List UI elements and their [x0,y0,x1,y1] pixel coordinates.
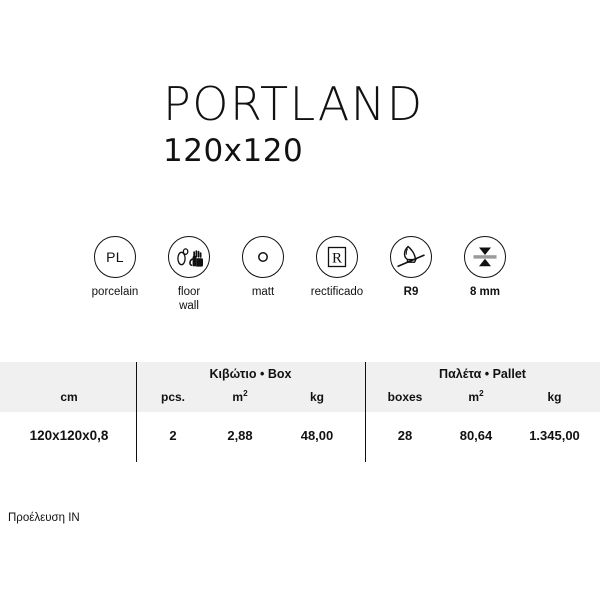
column-header-pcs: pcs. [142,390,204,404]
cell-pallet-kg: 1.345,00 [512,428,597,443]
packaging-spec-table: Κιβώτιο • Box Παλέτα • Pallet cm pcs. m2… [0,362,600,462]
product-size-subtitle: 120x120 [163,133,600,169]
feature-floor-wall: floor wall [152,236,226,313]
feature-label-slip-resistance: R9 [404,285,419,299]
matt-dot-circle-icon [242,236,284,278]
thickness-arrows-icon [464,236,506,278]
slip-resistance-ramp-foot-icon [390,236,432,278]
feature-rectified: R rectificado [300,236,374,313]
cell-cm: 120x120x0,8 [14,428,124,443]
product-header: PORTLAND 120x120 [0,78,600,169]
column-header-pallet-kg: kg [512,390,597,404]
cell-box-m2: 2,88 [204,428,276,443]
column-group-pallet: Παλέτα • Pallet [365,367,600,381]
table-divider-2-body [365,412,366,462]
feature-label-porcelain: porcelain [92,285,139,299]
cell-boxes: 28 [370,428,440,443]
origin-note: Προέλευση IN [8,512,80,524]
feature-label-thickness: 8 mm [470,285,500,299]
feature-label-matt: matt [252,285,274,299]
rectified-r-square-icon: R [316,236,358,278]
cell-pcs: 2 [142,428,204,443]
table-divider-1-body [136,412,137,462]
feature-porcelain: PL porcelain [78,236,152,313]
column-header-cm: cm [14,390,124,404]
feature-slip-resistance: R9 [374,236,448,313]
feature-matt: matt [226,236,300,313]
table-row: 120x120x0,8 2 2,88 48,00 28 80,64 1.345,… [0,412,600,462]
page-title: PORTLAND [163,78,600,130]
column-header-boxes: boxes [370,390,440,404]
table-header: Κιβώτιο • Box Παλέτα • Pallet cm pcs. m2… [0,362,600,412]
feature-thickness: 8 mm [448,236,522,313]
column-header-box-kg: kg [276,390,358,404]
column-header-box-m2: m2 [204,390,276,404]
pl-badge-text: PL [106,249,124,265]
svg-text:R: R [332,250,342,266]
feature-label-floor-wall: floor wall [178,285,200,313]
feature-icon-row: PL porcelain floor wall [78,236,522,313]
column-header-pallet-m2: m2 [440,390,512,404]
cell-pallet-m2: 80,64 [440,428,512,443]
cell-box-kg: 48,00 [276,428,358,443]
pl-circle-icon: PL [94,236,136,278]
column-group-box: Κιβώτιο • Box [136,367,365,381]
footprint-hand-icon [168,236,210,278]
feature-label-rectified: rectificado [311,285,363,299]
